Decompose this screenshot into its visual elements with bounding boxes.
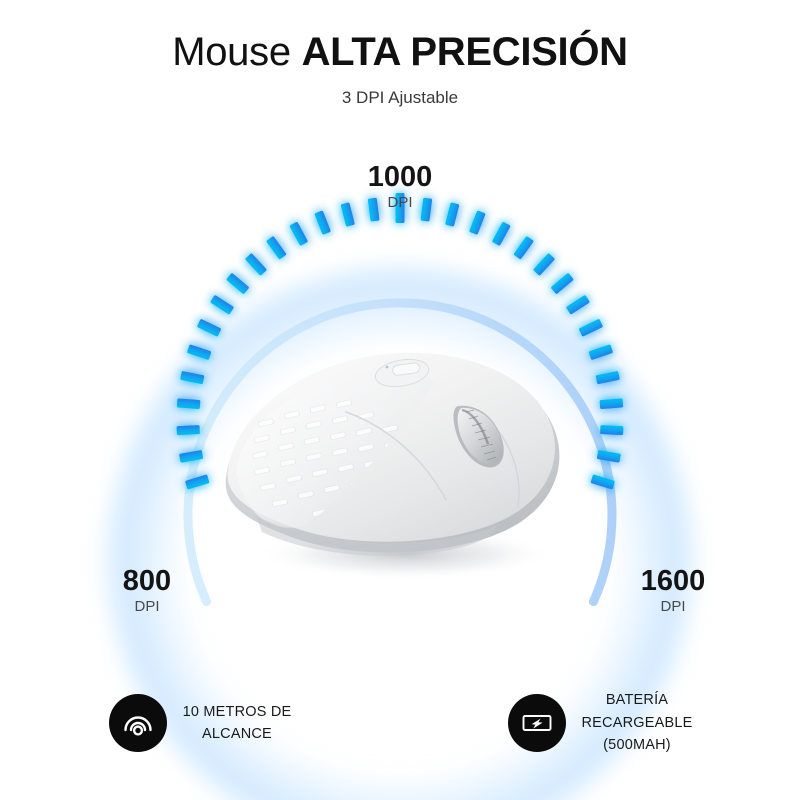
page-title: Mouse ALTA PRECISIÓN (0, 28, 800, 76)
header: Mouse ALTA PRECISIÓN 3 DPI Ajustable (0, 28, 800, 108)
dpi-label-1600: 1600 DPI (608, 566, 738, 615)
dpi-label-1000: 1000 DPI (330, 162, 470, 211)
feature-battery-line1: BATERÍA (582, 689, 693, 711)
wifi-signal-icon (109, 694, 167, 752)
page-subtitle: 3 DPI Ajustable (0, 88, 800, 108)
dpi-value: 800 (92, 566, 202, 597)
title-light-part: Mouse (172, 30, 301, 74)
product-image (196, 330, 596, 590)
battery-charging-icon (508, 694, 566, 752)
feature-battery-line2: RECARGEABLE (582, 712, 693, 734)
dpi-unit: DPI (608, 599, 738, 615)
title-bold-part: ALTA PRECISIÓN (302, 30, 628, 74)
product-feature-poster: Mouse ALTA PRECISIÓN 3 DPI Ajustable (0, 0, 800, 800)
feature-battery-label: BATERÍA RECARGEABLE (500MAH) (582, 689, 693, 756)
dpi-value: 1600 (608, 566, 738, 597)
dpi-label-800: 800 DPI (92, 566, 202, 615)
dpi-unit: DPI (330, 195, 470, 211)
dpi-value: 1000 (330, 162, 470, 193)
feature-battery-line3: (500MAH) (582, 734, 693, 756)
feature-battery: BATERÍA RECARGEABLE (500MAH) (400, 668, 800, 778)
feature-range-line1: 10 METROS DE (183, 701, 292, 723)
feature-range: 10 METROS DE ALCANCE (0, 668, 400, 778)
feature-range-line2: ALCANCE (183, 723, 292, 745)
feature-list: 10 METROS DE ALCANCE BATERÍA RECARGEABLE… (0, 668, 800, 778)
dpi-unit: DPI (92, 599, 202, 615)
feature-range-label: 10 METROS DE ALCANCE (183, 701, 292, 746)
mouse-illustration (196, 330, 596, 590)
